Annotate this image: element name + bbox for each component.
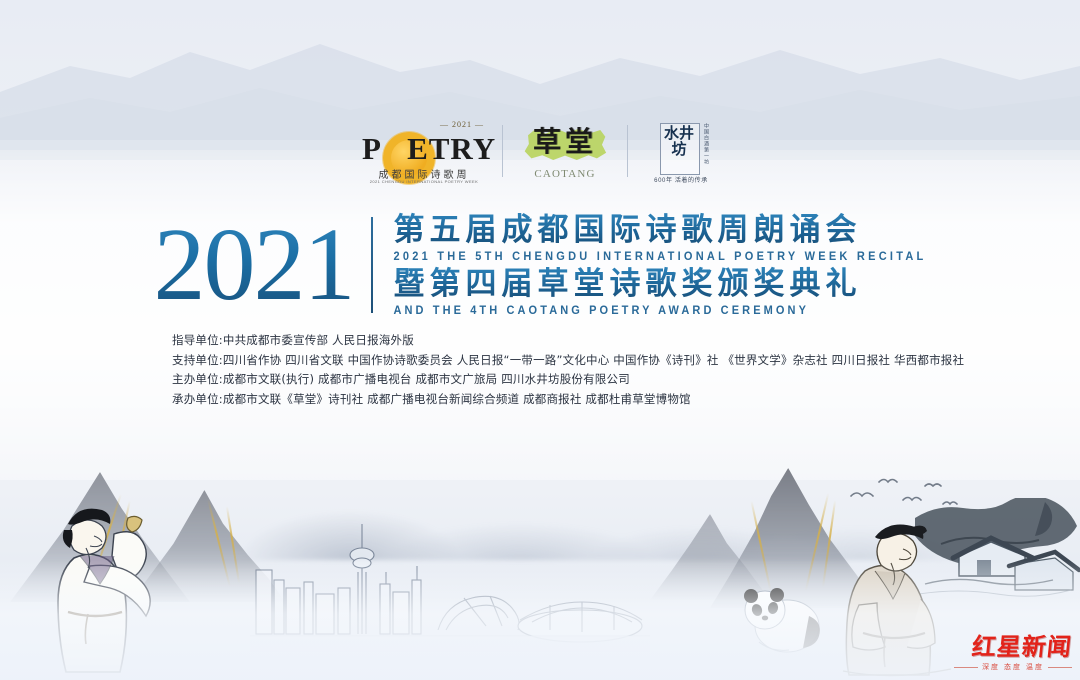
watermark-tagline: 深度 态度 温度: [982, 662, 1044, 672]
ground-haze: [0, 560, 1080, 680]
caotang-logo-english: CAOTANG: [519, 168, 611, 180]
credit-organizer: 承办单位:成都市文联《草堂》诗刊社 成都广播电视台新闻综合频道 成都商报社 成都…: [172, 390, 1022, 410]
title-divider-rule: [371, 217, 373, 313]
poetry-logo: 2021 POETRY 成都国际诗歌周 2021 CHENGDU INTERNA…: [346, 116, 502, 186]
shuijingfang-side-text: 中国白酒第一坊: [703, 123, 710, 165]
watermark-brand: 红星新闻: [953, 634, 1074, 660]
watermark-tagline-row: 深度 态度 温度: [954, 662, 1072, 672]
credits-block: 指导单位:中共成都市委宣传部 人民日报海外版 支持单位:四川省作协 四川省文联 …: [172, 331, 1022, 409]
title-line1-chinese: 第五届成都国际诗歌周朗诵会: [393, 211, 926, 249]
credit-host: 主办单位:成都市文联(执行) 成都市广播电视台 成都市文广旅局 四川水井坊股份有…: [172, 370, 1022, 390]
poetry-wordmark: POETRY: [362, 132, 486, 166]
title-line1-english: 2021 THE 5TH CHENGDU INTERNATIONAL POETR…: [393, 249, 926, 266]
poetry-year-badge: 2021: [440, 120, 484, 129]
logo-row: 2021 POETRY 成都国际诗歌周 2021 CHENGDU INTERNA…: [0, 112, 1080, 190]
shuijingfang-logo-chinese: 水井坊: [660, 125, 698, 157]
title-line2-chinese: 暨第四届草堂诗歌奖颁奖典礼: [393, 265, 926, 303]
poster-canvas: 2021 POETRY 成都国际诗歌周 2021 CHENGDU INTERNA…: [0, 0, 1080, 680]
credit-guidance: 指导单位:中共成都市委宣传部 人民日报海外版: [172, 331, 1022, 351]
shuijingfang-logo: 中国白酒第一坊 水井坊 600年 活着的传承: [628, 115, 734, 187]
caotang-logo-chinese: 草堂: [519, 122, 611, 162]
watermark-rule-right: [1048, 667, 1072, 668]
watermark-rule-left: [954, 667, 978, 668]
year-2021: 2021: [153, 213, 353, 317]
poetry-logo-english: 2021 CHENGDU INTERNATIONAL POETRY WEEK: [362, 179, 486, 184]
main-title-block: 2021 第五届成都国际诗歌周朗诵会 2021 THE 5TH CHENGDU …: [0, 206, 1080, 324]
watermark-hongxing-news: 红星新闻 深度 态度 温度: [954, 634, 1072, 674]
shuijingfang-caption: 600年 活着的传承: [644, 175, 718, 184]
credit-support: 支持单位:四川省作协 四川省文联 中国作协诗歌委员会 人民日报“一带一路”文化中…: [172, 351, 1022, 371]
title-line2-english: AND THE 4TH CAOTANG POETRY AWARD CEREMON…: [393, 303, 926, 320]
caotang-logo: 草堂 CAOTANG: [503, 116, 627, 186]
title-lines: 第五届成都国际诗歌周朗诵会 2021 THE 5TH CHENGDU INTER…: [393, 211, 926, 319]
